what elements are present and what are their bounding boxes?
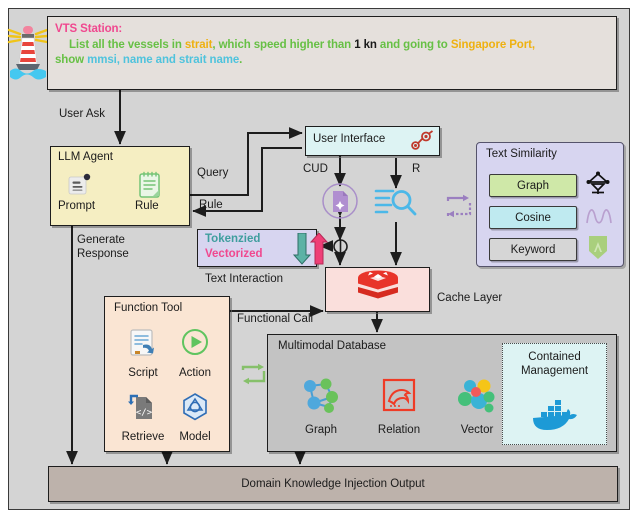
db-graph-label: Graph xyxy=(286,424,356,436)
similarity-graph-label: Graph xyxy=(517,180,549,192)
prompt-l1-strait: strait xyxy=(185,39,213,51)
edge-label-user-ask: User Ask xyxy=(59,108,105,120)
llm-agent-title: LLM Agent xyxy=(58,151,113,163)
function-tool-script-label: Script xyxy=(115,367,171,379)
keyword-shield-icon xyxy=(586,234,610,267)
prompt-l2-b: . xyxy=(239,54,242,66)
graph-network-icon xyxy=(585,171,611,202)
edge-label-rule: Rule xyxy=(199,199,223,211)
text-similarity-title: Text Similarity xyxy=(486,148,557,160)
vector-dots-icon xyxy=(455,377,499,417)
text-similarity-panel: Text Similarity Graph Cosine xyxy=(476,142,624,267)
similarity-cosine-label: Cosine xyxy=(515,212,551,224)
function-tool-item-action[interactable]: Action xyxy=(167,327,223,379)
tokenized-label: Tokenzied xyxy=(205,233,260,245)
function-tool-title: Function Tool xyxy=(114,302,182,314)
loop-refresh-purple-icon xyxy=(443,194,475,225)
contained-management-line2: Management xyxy=(521,365,588,377)
function-tool-item-script[interactable]: Script xyxy=(115,327,171,379)
function-tool-item-retrieve[interactable]: </> Retrieve xyxy=(115,391,171,443)
function-tool-retrieve-label: Retrieve xyxy=(115,431,171,443)
multimodal-database-panel: Multimodal Database Graph xyxy=(267,334,617,452)
contained-management-box: Contained Management xyxy=(502,343,607,445)
prompt-line-2: show mmsi, name and strait name. xyxy=(55,53,609,69)
prompt-note-icon xyxy=(67,172,93,203)
edge-label-cud: CUD xyxy=(303,163,328,175)
user-interface-box: User Interface xyxy=(305,126,440,156)
output-bar-label: Domain Knowledge Injection Output xyxy=(241,478,424,490)
model-polygon-icon xyxy=(178,391,212,425)
neo4j-graph-icon xyxy=(299,377,343,417)
diagram-canvas: VTS Station: List all the vessels in str… xyxy=(0,0,640,523)
junction-node-icon xyxy=(332,238,349,260)
loop-refresh-green-icon xyxy=(238,362,270,393)
contained-management-line1: Contained xyxy=(528,351,580,363)
retrieve-code-doc-icon: </> xyxy=(126,391,160,425)
llm-agent-rule-label: Rule xyxy=(135,200,159,212)
cache-layer-box xyxy=(325,267,430,312)
similarity-keyword-label: Keyword xyxy=(511,244,556,256)
function-tool-model-label: Model xyxy=(167,431,223,443)
prompt-l1-c: and going to xyxy=(377,39,451,51)
function-tool-panel: Function Tool Script Action xyxy=(104,296,230,452)
lighthouse-icon xyxy=(6,24,50,82)
llm-agent-prompt-label: Prompt xyxy=(58,200,95,212)
arrow-up-icon xyxy=(310,233,328,270)
prompt-l2-a: show xyxy=(55,54,87,66)
vectorized-label: Vectorized xyxy=(205,248,263,260)
action-play-icon xyxy=(178,327,212,361)
sine-wave-icon xyxy=(585,205,613,232)
function-tool-item-model[interactable]: Model xyxy=(167,391,223,443)
prompt-line-1: List all the vessels in strait, which sp… xyxy=(55,38,609,54)
prompt-l1-b: , which speed higher than xyxy=(212,39,354,51)
similarity-button-cosine[interactable]: Cosine xyxy=(489,206,577,229)
vts-prompt-box: VTS Station: List all the vessels in str… xyxy=(47,16,617,90)
script-doc-icon xyxy=(126,327,160,361)
similarity-button-graph[interactable]: Graph xyxy=(489,174,577,197)
edge-label-functional-call: Functional Call xyxy=(237,313,313,325)
edge-label-query: Query xyxy=(197,167,228,179)
document-add-circle-icon xyxy=(320,182,360,225)
mysql-dolphin-icon xyxy=(377,377,421,417)
multimodal-database-title: Multimodal Database xyxy=(278,340,386,352)
contained-management-title: Contained Management xyxy=(503,350,606,378)
similarity-button-keyword[interactable]: Keyword xyxy=(489,238,577,261)
prompt-l1-a: List all the vessels in xyxy=(69,39,185,51)
user-interface-title: User Interface xyxy=(313,133,385,145)
prompt-title: VTS Station: xyxy=(55,22,609,38)
text-interaction-caption: Text Interaction xyxy=(205,273,283,285)
prompt-l1-num: 1 kn xyxy=(354,39,377,51)
search-list-icon xyxy=(374,184,418,227)
text-interaction-box: Tokenzied Vectorized xyxy=(197,229,317,267)
arrow-down-icon xyxy=(293,233,311,270)
redis-stack-icon xyxy=(355,268,401,311)
output-bar: Domain Knowledge Injection Output xyxy=(48,466,618,502)
llm-agent-box: LLM Agent Prompt xyxy=(50,146,190,226)
edge-label-generate-response: Generate Response xyxy=(77,233,155,261)
db-item-graph[interactable]: Graph xyxy=(286,377,356,436)
db-item-relation[interactable]: Relation xyxy=(364,377,434,436)
prompt-l1-port: Singapore Port, xyxy=(451,39,535,51)
edge-label-r: R xyxy=(412,163,420,175)
svg-text:</>: </> xyxy=(136,408,153,418)
cache-layer-label: Cache Layer xyxy=(437,292,502,304)
docker-whale-icon xyxy=(527,396,583,441)
cursor-node-icon xyxy=(409,130,435,159)
db-relation-label: Relation xyxy=(364,424,434,436)
function-tool-action-label: Action xyxy=(167,367,223,379)
prompt-l2-fields: mmsi, name and strait name xyxy=(87,54,239,66)
